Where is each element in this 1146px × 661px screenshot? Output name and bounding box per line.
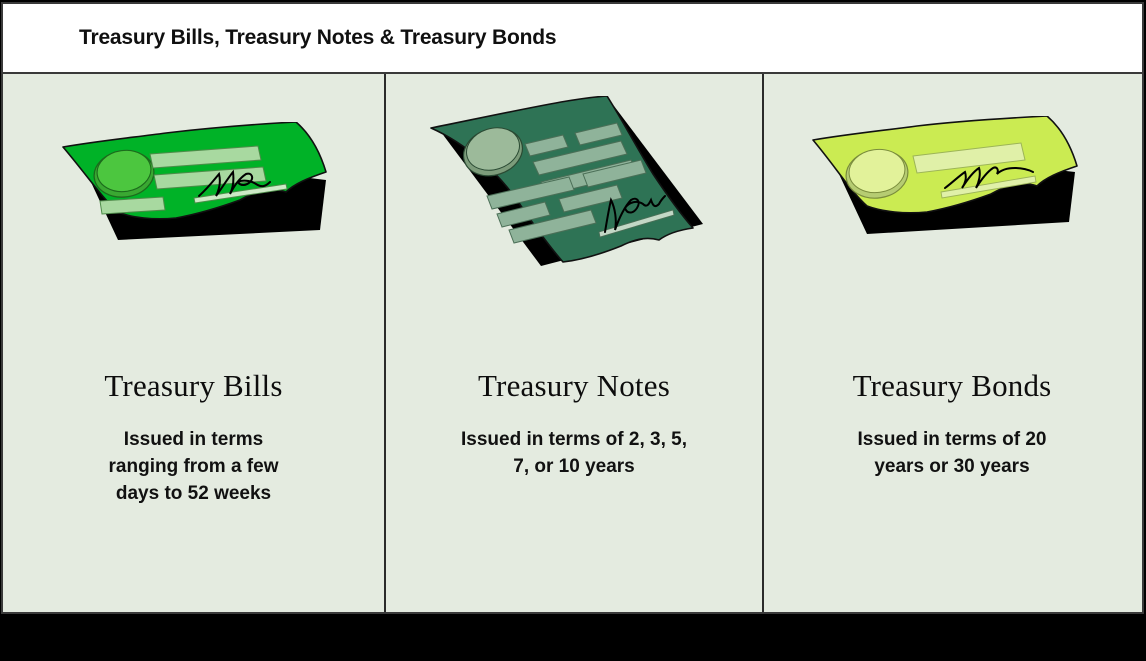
treasury-bill-certificate-illustration <box>58 122 348 267</box>
heading-treasury-bills: Treasury Bills <box>104 370 282 401</box>
treasury-bond-certificate-illustration <box>809 116 1099 261</box>
description-treasury-bonds: Issued in terms of 20 years or 30 years <box>828 427 1076 481</box>
illustration-area-bills <box>3 74 384 336</box>
heading-treasury-bonds: Treasury Bonds <box>853 370 1052 401</box>
infographic-root: Treasury Bills, Treasury Notes & Treasur… <box>0 0 1146 661</box>
column-treasury-bills: Treasury Bills Issued in terms ranging f… <box>3 74 384 612</box>
illustration-area-bonds <box>764 74 1140 336</box>
content-panel: Treasury Bills Issued in terms ranging f… <box>1 74 1144 614</box>
column-treasury-notes: Treasury Notes Issued in terms of 2, 3, … <box>384 74 764 612</box>
description-treasury-notes: Issued in terms of 2, 3, 5, 7, or 10 yea… <box>424 427 724 481</box>
column-treasury-bonds: Treasury Bonds Issued in terms of 20 yea… <box>764 74 1140 612</box>
heading-treasury-notes: Treasury Notes <box>478 370 670 401</box>
bottom-canvas-strip <box>0 614 1146 661</box>
page-title: Treasury Bills, Treasury Notes & Treasur… <box>79 26 556 50</box>
illustration-area-notes <box>386 74 762 336</box>
header-band: Treasury Bills, Treasury Notes & Treasur… <box>1 2 1144 74</box>
treasury-note-certificate-illustration <box>421 96 731 276</box>
description-treasury-bills: Issued in terms ranging from a few days … <box>81 427 306 508</box>
